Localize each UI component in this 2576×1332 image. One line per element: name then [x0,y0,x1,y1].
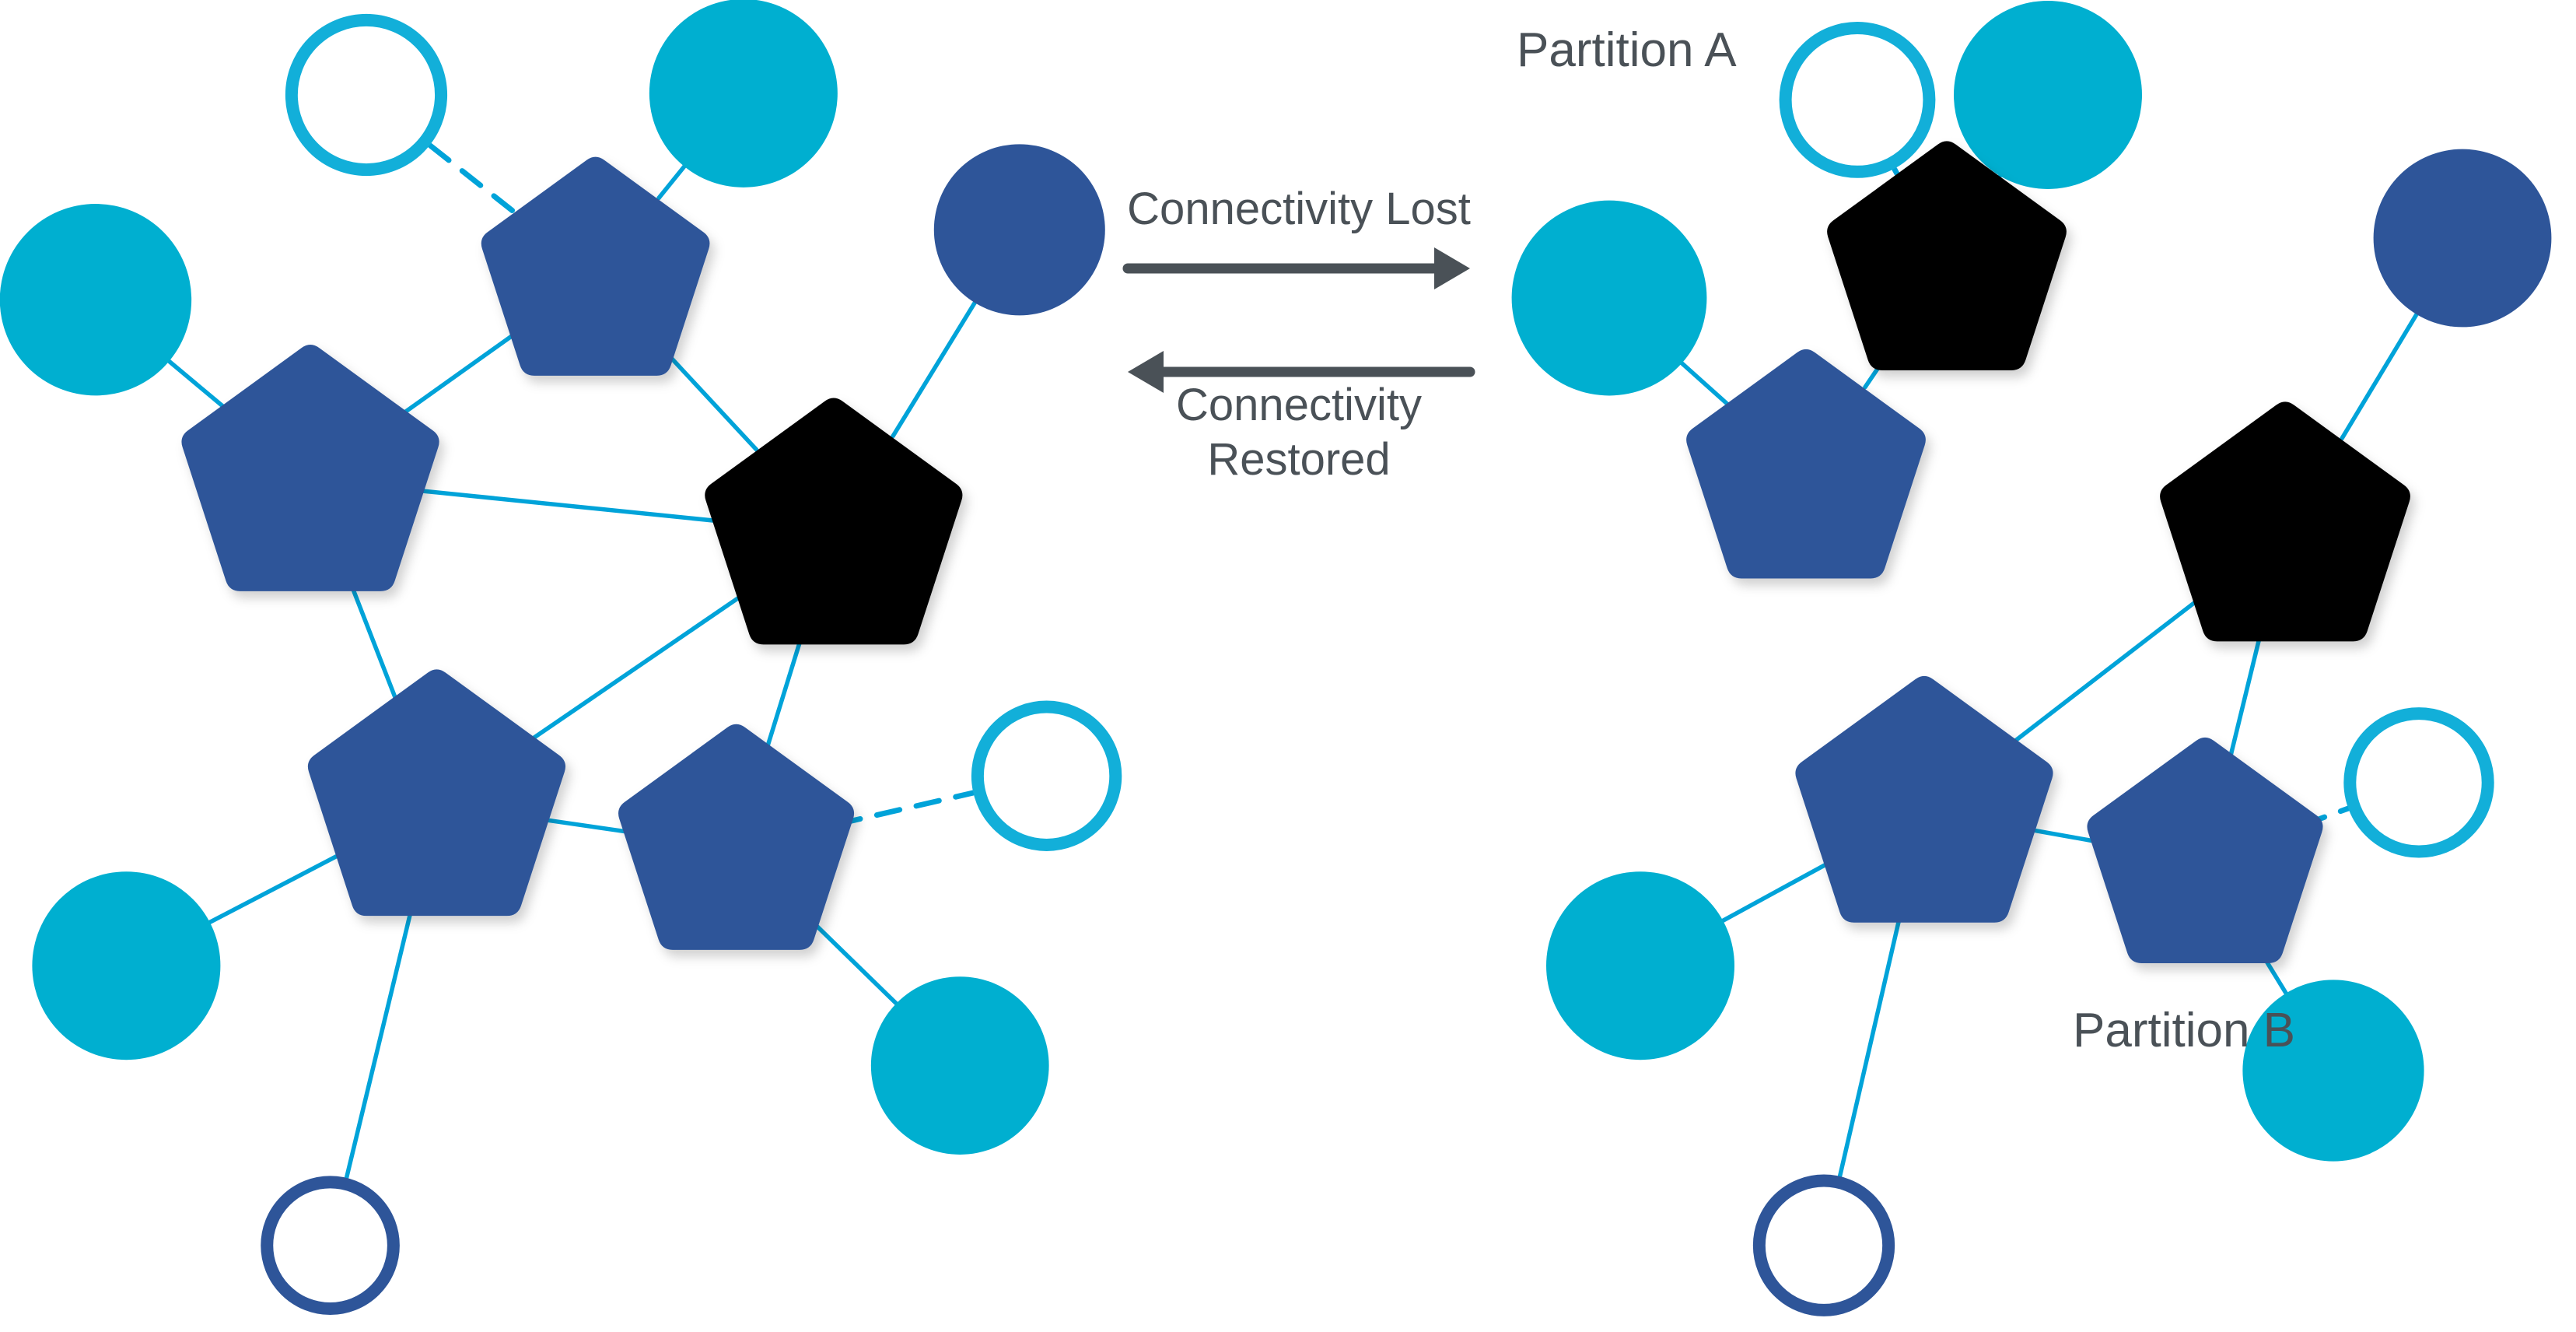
arrow-head [1128,351,1164,393]
graph-edge [352,585,396,699]
node-pentagon[interactable] [181,345,439,591]
node-circle-filled[interactable] [649,0,838,188]
node-circle-filled[interactable] [1512,201,1707,396]
graph-edge [403,335,513,413]
connectivity-restored-label-line1: Connectivity [1176,380,1422,430]
node-circle-hollow[interactable] [1786,28,1930,172]
node-circle-filled[interactable] [32,871,220,1060]
node-circle-hollow[interactable] [978,707,1115,845]
node-pentagon-leader[interactable] [2160,401,2410,641]
graph-edge [1840,921,1899,1176]
node-circle-filled[interactable] [2374,149,2552,328]
node-pentagon[interactable] [308,669,565,916]
network-partition-diagram: Partition APartition B Connectivity Lost… [0,0,2576,1332]
graph-edge [1717,865,1825,924]
graph-edge [423,491,721,521]
graph-edge [530,597,740,740]
node-pentagon[interactable] [1686,349,1926,579]
graph-edge [203,857,336,926]
graph-edge [2014,600,2197,741]
graph-edge [810,920,901,1008]
graph-edge [1895,170,1897,174]
node-circle-filled[interactable] [0,204,191,395]
graph-edge [767,641,800,748]
node-circle-filled[interactable] [871,976,1049,1155]
graph-edge [430,145,516,214]
partition-label: Partition B [2073,1004,2295,1057]
connectivity-lost-label: Connectivity Lost [1127,184,1471,234]
node-circle-filled[interactable] [934,144,1105,315]
connectivity-restored-label-line2: Restored [1207,434,1390,485]
node-circle-filled[interactable] [1954,1,2142,189]
graph-edge [346,914,410,1178]
node-pentagon[interactable] [618,724,854,950]
node-pentagon[interactable] [2087,738,2322,963]
partition-label: Partition A [1517,23,1737,77]
graph-edge [838,793,973,824]
connectivity-lost-arrow [1128,247,1470,289]
transition-arrows-layer: Connectivity LostConnectivityRestored [1127,184,1471,485]
graph-edge [2230,640,2259,759]
arrow-head [1434,247,1470,289]
node-circle-hollow[interactable] [292,20,441,170]
node-circle-hollow[interactable] [2350,713,2487,851]
node-circle-hollow[interactable] [1759,1181,1888,1310]
graph-edge [2342,308,2420,438]
node-pentagon[interactable] [1795,676,2053,923]
graph-edge [664,350,757,450]
graph-edge [163,356,223,407]
graph-edge [893,297,978,436]
node-pentagon[interactable] [481,157,710,376]
node-circle-filled[interactable] [1546,871,1734,1060]
node-circle-hollow[interactable] [267,1182,394,1309]
diagram-canvas: Partition APartition B Connectivity Lost… [0,0,2576,1332]
graph-edge [1676,358,1727,404]
